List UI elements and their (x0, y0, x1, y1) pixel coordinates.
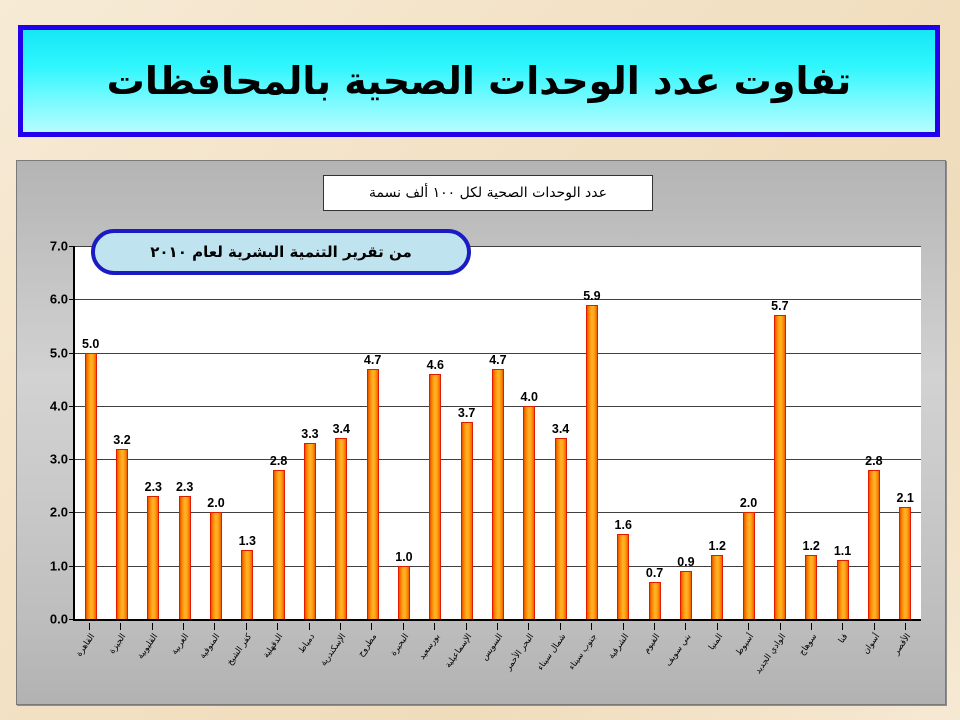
bar-value-label: 3.3 (301, 427, 318, 441)
bar-value-label: 0.9 (677, 555, 694, 569)
plot-area: 0.01.02.03.04.05.06.07.0 5.03.22.32.32.0… (73, 246, 921, 621)
bar[interactable]: 2.3 (179, 496, 191, 619)
x-axis-tick-label: أسوان (861, 632, 882, 656)
x-axis-tick-mark (466, 623, 467, 630)
x-axis-label-slot: الجيزة (104, 623, 135, 701)
x-axis-label-slot: المنيا (701, 623, 732, 701)
bar[interactable]: 3.4 (555, 438, 567, 619)
bar[interactable]: 5.0 (85, 353, 97, 619)
x-axis-tick-mark (560, 623, 561, 630)
slide-title-inner: تفاوت عدد الوحدات الصحية بالمحافظات (23, 30, 935, 132)
x-axis-tick-label: المنيا (707, 632, 725, 652)
bar-slot: 2.1 (890, 246, 921, 619)
bar-value-label: 2.1 (896, 491, 913, 505)
y-axis-tick-label: 1.0 (50, 558, 68, 573)
bar[interactable]: 2.0 (743, 512, 755, 619)
x-axis-tick-mark (528, 623, 529, 630)
bar-slot: 2.0 (733, 246, 764, 619)
bar-value-label: 2.3 (176, 480, 193, 494)
x-axis-tick-mark (120, 623, 121, 630)
bar-slot: 4.7 (357, 246, 388, 619)
bar-slot: 0.9 (670, 246, 701, 619)
bar-value-label: 3.7 (458, 406, 475, 420)
x-axis-tick-mark (654, 623, 655, 630)
bar[interactable]: 1.1 (837, 560, 849, 619)
bar[interactable]: 3.7 (461, 422, 473, 619)
bar[interactable]: 3.4 (335, 438, 347, 619)
bar[interactable]: 1.0 (398, 566, 410, 619)
bar-slot: 1.1 (827, 246, 858, 619)
bar-value-label: 5.0 (82, 337, 99, 351)
x-axis-tick-label: أسيوط (734, 632, 756, 658)
x-axis-tick-label: الشرقية (606, 632, 630, 661)
bar-value-label: 1.6 (615, 518, 632, 532)
bar[interactable]: 0.7 (649, 582, 661, 619)
bar-slot: 2.8 (858, 246, 889, 619)
x-axis-tick-label: السويس (480, 632, 505, 662)
x-axis-label-slot: قنا (827, 623, 858, 701)
bar-value-label: 2.8 (270, 454, 287, 468)
bar[interactable]: 2.8 (273, 470, 285, 619)
bar-slot: 4.0 (514, 246, 545, 619)
slide-title-banner: تفاوت عدد الوحدات الصحية بالمحافظات (18, 25, 940, 137)
bar-slot: 1.2 (796, 246, 827, 619)
x-axis-label-slot: جنوب سيناء (576, 623, 607, 701)
plot-area-wrapper: 0.01.02.03.04.05.06.07.0 5.03.22.32.32.0… (73, 246, 921, 621)
bar[interactable]: 0.9 (680, 571, 692, 619)
source-callout-label: من تقرير التنمية البشرية لعام ٢٠١٠ (150, 243, 412, 261)
bar-value-label: 3.4 (333, 422, 350, 436)
x-axis-labels: القاهرةالجيزةالقليوبيةالغربيةالمنوفيةكفر… (73, 623, 921, 701)
x-axis-tick-label: الدقهلية (261, 632, 285, 660)
x-axis-label-slot: مطروح (356, 623, 387, 701)
source-callout: من تقرير التنمية البشرية لعام ٢٠١٠ (91, 229, 471, 275)
bar-value-label: 3.4 (552, 422, 569, 436)
bar-value-label: 5.9 (583, 289, 600, 303)
x-axis-tick-label: المنوفية (198, 632, 222, 661)
bar-value-label: 1.1 (834, 544, 851, 558)
bar-slot: 5.0 (75, 246, 106, 619)
x-axis-label-slot: بني سويف (670, 623, 701, 701)
chart-subtitle-box: عدد الوحدات الصحية لكل ١٠٠ ألف نسمة (323, 175, 653, 211)
x-axis-tick-label: قنا (837, 632, 850, 645)
x-axis-tick-mark (685, 623, 686, 630)
bar-slot: 2.3 (138, 246, 169, 619)
bar[interactable]: 2.8 (868, 470, 880, 619)
x-axis-tick-mark (89, 623, 90, 630)
x-axis-tick-mark (371, 623, 372, 630)
y-axis-tick-label: 2.0 (50, 505, 68, 520)
chart-container: عدد الوحدات الصحية لكل ١٠٠ ألف نسمة من ت… (16, 160, 946, 705)
bar-value-label: 5.7 (771, 299, 788, 313)
x-axis-label-slot: الغربية (167, 623, 198, 701)
x-axis-tick-label: بورسعيد (417, 632, 442, 662)
y-axis-tick-label: 4.0 (50, 398, 68, 413)
x-axis-label-slot: الوادي الجديد (764, 623, 795, 701)
bar[interactable]: 1.3 (241, 550, 253, 619)
x-axis-tick-mark (340, 623, 341, 630)
bar-slot: 1.6 (608, 246, 639, 619)
bar-value-label: 4.6 (427, 358, 444, 372)
x-axis-tick-label: البحيرة (389, 632, 411, 658)
bar-slot: 5.9 (576, 246, 607, 619)
bar-slot: 3.7 (451, 246, 482, 619)
x-axis-tick-mark (183, 623, 184, 630)
bar-slot: 0.7 (639, 246, 670, 619)
bar-slot: 4.6 (420, 246, 451, 619)
x-axis-tick-mark (874, 623, 875, 630)
x-axis-tick-mark (434, 623, 435, 630)
x-axis-tick-mark (152, 623, 153, 630)
y-axis-tick-label: 3.0 (50, 452, 68, 467)
slide-canvas: تفاوت عدد الوحدات الصحية بالمحافظات عدد … (0, 0, 960, 720)
y-axis-tick-label: 7.0 (50, 239, 68, 254)
bar-slot: 5.7 (764, 246, 795, 619)
bar-slot: 1.0 (388, 246, 419, 619)
y-axis-tick-label: 6.0 (50, 292, 68, 307)
y-axis-tick-mark (69, 619, 75, 620)
x-axis-tick-mark (214, 623, 215, 630)
x-axis-label-slot: الإسكندرية (324, 623, 355, 701)
x-axis-tick-mark (277, 623, 278, 630)
bar-value-label: 2.3 (145, 480, 162, 494)
x-axis-label-slot: البحيرة (387, 623, 418, 701)
bar-value-label: 4.7 (489, 353, 506, 367)
bar-slot: 4.7 (482, 246, 513, 619)
x-axis-tick-label: القاهرة (74, 632, 97, 659)
x-axis-label-slot: سوهاج (795, 623, 826, 701)
x-axis-tick-label: الأقصر (892, 632, 914, 657)
bar-value-label: 1.2 (709, 539, 726, 553)
bar[interactable]: 2.1 (899, 507, 911, 619)
x-axis-tick-mark (905, 623, 906, 630)
bar[interactable]: 4.6 (429, 374, 441, 619)
x-axis-tick-mark (246, 623, 247, 630)
bar[interactable]: 1.2 (711, 555, 723, 619)
y-axis-tick-label: 0.0 (50, 612, 68, 627)
bar[interactable]: 4.0 (523, 406, 535, 619)
bar[interactable]: 3.2 (116, 449, 128, 620)
x-axis-tick-label: مطروح (357, 632, 380, 659)
bar[interactable]: 5.9 (586, 305, 598, 619)
bar[interactable]: 1.2 (805, 555, 817, 619)
bar-slot: 3.4 (545, 246, 576, 619)
bar-value-label: 1.3 (239, 534, 256, 548)
bar[interactable]: 3.3 (304, 443, 316, 619)
x-axis-label-slot: القليوبية (136, 623, 167, 701)
bar-series: 5.03.22.32.32.01.32.83.33.44.71.04.63.74… (75, 246, 921, 619)
bar-slot: 2.3 (169, 246, 200, 619)
x-axis-tick-label: القليوبية (135, 632, 160, 661)
x-axis-label-slot: أسوان (858, 623, 889, 701)
bar[interactable]: 1.6 (617, 534, 629, 619)
x-axis-tick-mark (497, 623, 498, 630)
bar[interactable]: 5.7 (774, 315, 786, 619)
bar-value-label: 4.0 (521, 390, 538, 404)
x-axis-label-slot: الشرقية (607, 623, 638, 701)
bar-value-label: 0.7 (646, 566, 663, 580)
x-axis-tick-label: الجيزة (107, 632, 128, 656)
bar-value-label: 3.2 (113, 433, 130, 447)
x-axis-label-slot: الأقصر (890, 623, 921, 701)
y-axis-tick-label: 5.0 (50, 345, 68, 360)
chart-subtitle: عدد الوحدات الصحية لكل ١٠٠ ألف نسمة (369, 185, 607, 201)
bar-value-label: 4.7 (364, 353, 381, 367)
x-axis-tick-mark (780, 623, 781, 630)
page-title: تفاوت عدد الوحدات الصحية بالمحافظات (107, 59, 852, 103)
bar-slot: 3.2 (106, 246, 137, 619)
bar[interactable]: 2.0 (210, 512, 222, 619)
x-axis-tick-mark (591, 623, 592, 630)
x-axis-tick-label: سوهاج (797, 632, 819, 657)
bar-value-label: 2.0 (740, 496, 757, 510)
x-axis-label-slot: كفر الشيخ (230, 623, 261, 701)
bar-slot: 2.8 (263, 246, 294, 619)
bar-slot: 1.3 (232, 246, 263, 619)
bar-value-label: 1.2 (803, 539, 820, 553)
x-axis-tick-mark (811, 623, 812, 630)
bar-slot: 3.3 (294, 246, 325, 619)
x-axis-tick-mark (748, 623, 749, 630)
x-axis-label-slot: الإسماعيلية (450, 623, 481, 701)
bar[interactable]: 4.7 (492, 369, 504, 619)
x-axis-tick-label: الفيوم (642, 632, 663, 655)
x-axis-label-slot: القاهرة (73, 623, 104, 701)
x-axis-tick-mark (403, 623, 404, 630)
bar-value-label: 2.0 (207, 496, 224, 510)
bar[interactable]: 2.3 (147, 496, 159, 619)
bar-slot: 1.2 (702, 246, 733, 619)
x-axis-tick-mark (717, 623, 718, 630)
bar-slot: 3.4 (326, 246, 357, 619)
x-axis-label-slot: الدقهلية (261, 623, 292, 701)
x-axis-tick-label: دمياط (296, 632, 316, 655)
bar-slot: 2.0 (200, 246, 231, 619)
x-axis-tick-label: الغربية (170, 632, 192, 657)
x-axis-tick-mark (842, 623, 843, 630)
x-axis-tick-label: كفر الشيخ (225, 632, 254, 667)
bar-value-label: 1.0 (395, 550, 412, 564)
bar[interactable]: 4.7 (367, 369, 379, 619)
x-axis-tick-mark (309, 623, 310, 630)
x-axis-tick-mark (623, 623, 624, 630)
bar-value-label: 2.8 (865, 454, 882, 468)
